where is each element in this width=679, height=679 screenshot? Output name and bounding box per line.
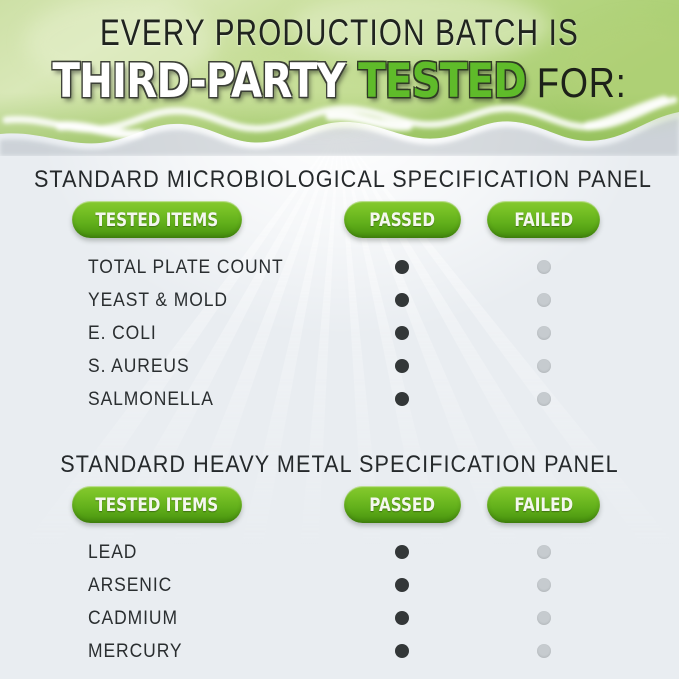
header-word-tested: TESTED — [358, 54, 526, 109]
rows-heavy-metal: LEAD ARSENIC CADMIUM MERCURY — [0, 542, 679, 674]
failed-dot — [537, 392, 551, 406]
passed-dot — [395, 611, 409, 625]
failed-dot — [537, 293, 551, 307]
failed-dot — [537, 260, 551, 274]
header-text-block: EVERY PRODUCTION BATCH IS THIRD-PARTY TE… — [0, 0, 679, 109]
passed-dot — [395, 392, 409, 406]
row-label: SALMONELLA — [88, 389, 214, 411]
column-header-passed-label: PASSED — [370, 209, 436, 231]
table-row: CADMIUM — [0, 608, 679, 641]
row-label: CADMIUM — [88, 608, 178, 630]
panel-title-microbiological: STANDARD MICROBIOLOGICAL SPECIFICATION P… — [34, 167, 645, 193]
column-header-failed: FAILED — [487, 486, 600, 523]
table-row: SALMONELLA — [0, 389, 679, 422]
table-row: MERCURY — [0, 641, 679, 674]
header-line-2: THIRD-PARTY TESTED FOR: — [48, 53, 632, 109]
infographic-page: EVERY PRODUCTION BATCH IS THIRD-PARTY TE… — [0, 0, 679, 679]
row-label: MERCURY — [88, 641, 183, 663]
table-row: ARSENIC — [0, 575, 679, 608]
passed-dot — [395, 545, 409, 559]
column-header-failed: FAILED — [487, 201, 600, 238]
column-header-tested-items: TESTED ITEMS — [72, 201, 242, 238]
failed-dot — [537, 359, 551, 373]
rows-microbiological: TOTAL PLATE COUNT YEAST & MOLD E. COLI S… — [0, 257, 679, 422]
failed-dot — [537, 545, 551, 559]
failed-dot — [537, 644, 551, 658]
panel-heavy-metal: STANDARD HEAVY METAL SPECIFICATION PANEL… — [0, 452, 679, 674]
passed-dot — [395, 578, 409, 592]
row-label: YEAST & MOLD — [88, 290, 228, 312]
failed-dot — [537, 578, 551, 592]
table-row: LEAD — [0, 542, 679, 575]
passed-dot — [395, 293, 409, 307]
column-header-tested-items: TESTED ITEMS — [72, 486, 242, 523]
passed-dot — [395, 326, 409, 340]
table-row: E. COLI — [0, 323, 679, 356]
failed-dot — [537, 611, 551, 625]
row-label: S. AUREUS — [88, 356, 190, 378]
column-header-failed-label: FAILED — [514, 209, 573, 231]
table-row: YEAST & MOLD — [0, 290, 679, 323]
header-banner: EVERY PRODUCTION BATCH IS THIRD-PARTY TE… — [0, 0, 679, 156]
header-word-for: FOR: — [537, 59, 627, 106]
column-header-passed-label: PASSED — [370, 494, 436, 516]
table-row: TOTAL PLATE COUNT — [0, 257, 679, 290]
column-header-tested-items-label: TESTED ITEMS — [96, 494, 219, 516]
header-word-third-party: THIRD-PARTY — [52, 54, 345, 109]
passed-dot — [395, 359, 409, 373]
row-label: LEAD — [88, 542, 137, 564]
column-header-passed: PASSED — [344, 486, 461, 523]
passed-dot — [395, 644, 409, 658]
panel-microbiological: STANDARD MICROBIOLOGICAL SPECIFICATION P… — [0, 167, 679, 422]
column-header-tested-items-label: TESTED ITEMS — [96, 209, 219, 231]
column-header-passed: PASSED — [344, 201, 461, 238]
column-header-row-heavy-metal: TESTED ITEMS PASSED FAILED — [0, 486, 679, 530]
table-row: S. AUREUS — [0, 356, 679, 389]
column-header-failed-label: FAILED — [514, 494, 573, 516]
row-label: TOTAL PLATE COUNT — [88, 257, 284, 279]
header-line-1: EVERY PRODUCTION BATCH IS — [68, 0, 611, 53]
failed-dot — [537, 326, 551, 340]
row-label: ARSENIC — [88, 575, 172, 597]
row-label: E. COLI — [88, 323, 157, 345]
column-header-row-microbiological: TESTED ITEMS PASSED FAILED — [0, 201, 679, 245]
passed-dot — [395, 260, 409, 274]
panel-title-heavy-metal: STANDARD HEAVY METAL SPECIFICATION PANEL — [34, 452, 645, 478]
